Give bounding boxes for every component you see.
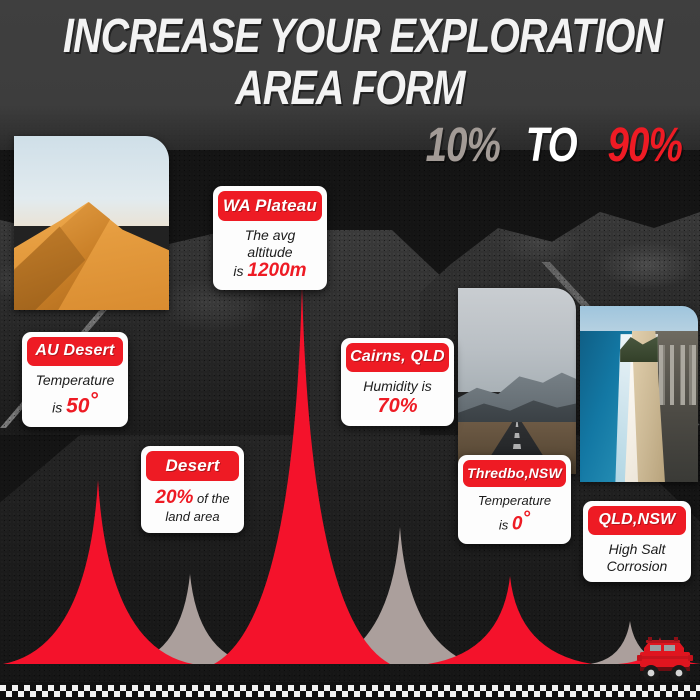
callout-header: WA Plateau: [218, 191, 322, 221]
callout-highlight: 50: [66, 394, 89, 417]
callout-header: Cairns, QLD: [346, 343, 449, 372]
callout-highlight: 20%: [155, 487, 193, 508]
callout-body: 20% of the land area: [146, 481, 239, 526]
callout-header: Desert: [146, 451, 239, 481]
callout-body: The avg altitude is 1200m: [218, 221, 322, 283]
callout-body: Temperature is 50°: [27, 366, 123, 420]
headline-percent-range: 10% TO 90%: [0, 122, 700, 170]
callout-header: AU Desert: [27, 337, 123, 366]
callout-au-desert[interactable]: AU Desert Temperature is 50°: [22, 332, 128, 427]
callout-text: Temperature: [478, 493, 551, 508]
callout-text: The avg altitude: [245, 227, 296, 260]
callout-text-2: is: [233, 263, 247, 279]
callout-thredbo-nsw[interactable]: Thredbo,NSW Temperature is 0°: [458, 455, 571, 544]
callout-body: Temperature is 0°: [463, 487, 566, 537]
gold-coast-artwork: [580, 306, 698, 482]
callout-cairns-qld[interactable]: Cairns, QLD Humidity is 70%: [341, 338, 454, 426]
callout-header: QLD,NSW: [588, 506, 686, 535]
callout-body: High Salt Corrosion: [588, 535, 686, 575]
percent-from: 10%: [426, 122, 500, 170]
degree-symbol: °: [89, 389, 97, 412]
percent-connector: TO: [526, 122, 577, 170]
callout-text-2: land area: [165, 509, 219, 524]
callout-wa-plateau[interactable]: WA Plateau The avg altitude is 1200m: [213, 186, 327, 290]
photo-mountain-road: [458, 288, 576, 474]
callout-qld-nsw[interactable]: QLD,NSW High Salt Corrosion: [583, 501, 691, 582]
callout-text: High Salt: [609, 541, 666, 557]
callout-text-2: is: [52, 399, 66, 415]
callout-text: of the: [193, 491, 229, 506]
mountain-road-artwork: [458, 288, 576, 474]
callout-highlight: 1200m: [247, 260, 306, 281]
callout-text-2: Corrosion: [607, 558, 668, 574]
red-4x4-icon: [634, 636, 696, 684]
callout-body: Humidity is 70%: [346, 372, 449, 419]
headline-line-2: AREA FORM: [63, 60, 637, 112]
callout-highlight: 70%: [377, 395, 417, 417]
callout-header: Thredbo,NSW: [463, 460, 566, 487]
callout-text: Humidity is: [363, 378, 431, 394]
infographic-canvas: INCREASE YOUR EXPLORATION AREA FORM 10% …: [0, 0, 700, 700]
headline-block: INCREASE YOUR EXPLORATION AREA FORM 10% …: [0, 0, 700, 170]
percent-target: 90%: [608, 122, 682, 170]
degree-symbol: °: [522, 508, 530, 529]
headline-line-1: INCREASE YOUR EXPLORATION: [63, 0, 637, 60]
callout-highlight: 0: [512, 514, 523, 535]
callout-text-2: is: [499, 518, 512, 533]
callout-text: Temperature: [36, 372, 115, 388]
callout-desert[interactable]: Desert 20% of the land area: [141, 446, 244, 533]
photo-gold-coast: [580, 306, 698, 482]
footer-checker-strip: [0, 682, 700, 700]
